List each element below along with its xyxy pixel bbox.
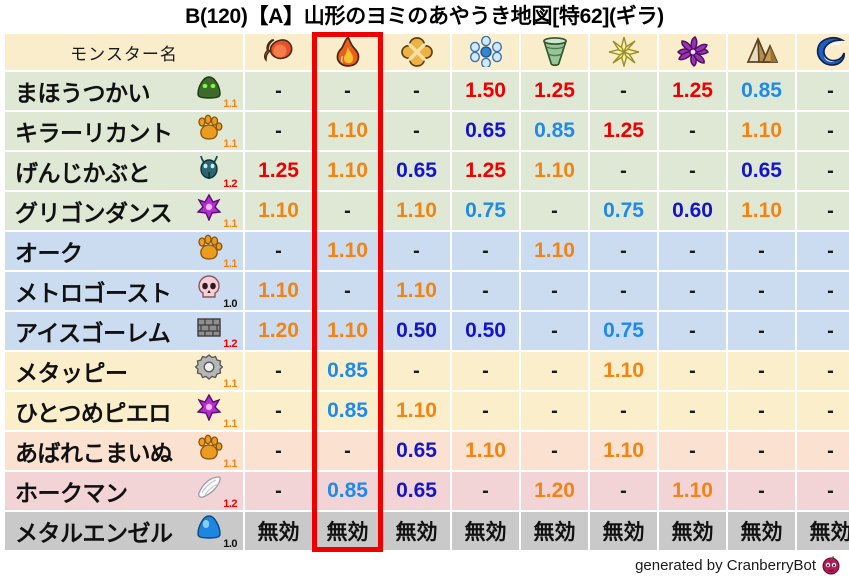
monster-family-badge: 1.0	[193, 514, 237, 548]
resistance-value: -	[551, 320, 558, 342]
resistance-cell: -	[245, 472, 312, 510]
beast-paw-icon	[195, 433, 223, 461]
resistance-cell: -	[728, 392, 795, 430]
resistance-cell: -	[383, 72, 450, 110]
resistance-value: -	[758, 400, 765, 422]
column-header-element-6[interactable]	[659, 34, 726, 70]
resistance-value: -	[551, 280, 558, 302]
resistance-cell: -	[728, 272, 795, 310]
resistance-cell: 1.10	[245, 192, 312, 230]
resistance-value: -	[689, 280, 696, 302]
resistance-value: -	[827, 440, 834, 462]
resistance-value: -	[482, 240, 489, 262]
monster-version-label: 1.2	[223, 339, 237, 350]
resistance-value: -	[620, 400, 627, 422]
resistance-cell: -	[383, 232, 450, 270]
explosion-icon	[400, 36, 434, 68]
resistance-value: 無効	[465, 521, 507, 544]
resistance-value: -	[344, 200, 351, 222]
resistance-value: 1.25	[672, 79, 713, 102]
resistance-value: 1.25	[465, 159, 506, 182]
resistance-value: -	[482, 480, 489, 502]
resistance-value: 無効	[327, 521, 369, 544]
resistance-cell: -	[383, 112, 450, 150]
resistance-value: -	[689, 440, 696, 462]
resistance-value: -	[827, 400, 834, 422]
resistance-value: 0.85	[327, 479, 368, 502]
resistance-value: 1.10	[741, 199, 782, 222]
monster-name-label: ホークマン	[15, 474, 128, 508]
resistance-cell: -	[245, 352, 312, 390]
monster-family-badge: 1.2	[193, 314, 237, 348]
resistance-value: 0.75	[465, 199, 506, 222]
resistance-value: 1.25	[258, 159, 299, 182]
resistance-value: -	[275, 360, 282, 382]
column-header-element-2[interactable]	[383, 34, 450, 70]
resistance-value: -	[344, 80, 351, 102]
monster-family-badge: 1.1	[193, 394, 237, 428]
resistance-cell: -	[590, 272, 657, 310]
resistance-value: 無効	[810, 521, 849, 544]
resistance-cell: 0.65	[383, 152, 450, 190]
machine-gear-icon	[195, 353, 223, 381]
resistance-value: -	[758, 240, 765, 262]
resistance-value: 1.20	[258, 319, 299, 342]
resistance-cell: -	[590, 472, 657, 510]
table-header-row: モンスター名	[5, 34, 849, 70]
resistance-value: -	[689, 240, 696, 262]
resistance-cell: -	[728, 472, 795, 510]
resistance-value: -	[689, 320, 696, 342]
monster-name-cell[interactable]: まほうつかい1.1	[5, 72, 243, 110]
bird-wing-icon	[195, 473, 223, 501]
resistance-cell: -	[797, 192, 849, 230]
flame-icon	[331, 36, 365, 68]
resistance-value: 0.65	[396, 159, 437, 182]
resistance-value: -	[827, 80, 834, 102]
resistance-value: -	[620, 280, 627, 302]
monster-version-label: 1.1	[223, 379, 237, 390]
resistance-value: 0.65	[465, 119, 506, 142]
resistance-value: 1.10	[327, 319, 368, 342]
resistance-value: -	[827, 480, 834, 502]
resistance-cell: 1.10	[659, 472, 726, 510]
resistance-cell: 1.50	[452, 72, 519, 110]
light-star-icon	[607, 36, 641, 68]
resistance-value: -	[620, 160, 627, 182]
footer-credit: generated by CranberryBot	[635, 555, 841, 575]
demon-icon	[195, 393, 223, 421]
resistance-value: 0.85	[534, 119, 575, 142]
table-row: アイスゴーレム1.21.201.100.500.50-0.75---	[5, 312, 849, 350]
resistance-cell: -	[521, 192, 588, 230]
monster-version-label: 1.2	[223, 499, 237, 510]
beast-paw-icon	[195, 233, 223, 261]
resistance-value: -	[689, 400, 696, 422]
resistance-value: -	[275, 120, 282, 142]
resistance-cell: -	[314, 72, 381, 110]
resistance-cell: -	[452, 392, 519, 430]
resistance-value: 0.85	[741, 79, 782, 102]
resistance-value: 1.10	[741, 119, 782, 142]
resistance-value: -	[827, 120, 834, 142]
resistance-value: -	[344, 280, 351, 302]
resistance-value: -	[275, 480, 282, 502]
resistance-value: -	[758, 480, 765, 502]
resistance-cell: -	[314, 192, 381, 230]
resistance-cell: -	[245, 72, 312, 110]
resistance-cell: -	[521, 432, 588, 470]
resistance-value: 1.25	[603, 119, 644, 142]
resistance-value: -	[551, 400, 558, 422]
resistance-value: -	[275, 240, 282, 262]
resistance-cell: -	[659, 152, 726, 190]
resistance-cell: -	[521, 392, 588, 430]
column-header-element-8[interactable]	[797, 34, 849, 70]
table-row: グリゴンダンス1.11.10-1.100.75-0.750.601.10-	[5, 192, 849, 230]
monster-name-label: メトロゴースト	[15, 274, 171, 308]
resistance-cell: -	[245, 392, 312, 430]
resistance-cell: 0.65	[452, 112, 519, 150]
monster-family-badge: 1.0	[193, 274, 237, 308]
resistance-value: 0.75	[603, 199, 644, 222]
resistance-value: 1.10	[603, 439, 644, 462]
monster-name-cell[interactable]: メタルエンゼル1.0	[5, 512, 243, 550]
metal-slime-icon	[195, 513, 223, 541]
resistance-value: -	[413, 360, 420, 382]
table-row: メタルエンゼル1.0無効無効無効無効無効無効無効無効無効	[5, 512, 849, 550]
resistance-cell: -	[797, 472, 849, 510]
resistance-cell: -	[797, 112, 849, 150]
material-brick-icon	[195, 313, 223, 341]
monster-version-label: 1.0	[223, 299, 237, 310]
resistance-cell: -	[659, 392, 726, 430]
resistance-value: 0.65	[396, 439, 437, 462]
resistance-cell: -	[590, 232, 657, 270]
monster-name-label: あばれこまいぬ	[15, 434, 173, 468]
resistance-value: -	[827, 200, 834, 222]
ice-snowflake-icon	[469, 36, 503, 68]
resistance-value: 1.25	[534, 79, 575, 102]
resistance-value: -	[482, 280, 489, 302]
resistance-cell: 0.75	[590, 192, 657, 230]
resistance-cell: 0.50	[383, 312, 450, 350]
resistance-value: -	[689, 360, 696, 382]
resistance-cell: -	[659, 272, 726, 310]
resistance-cell: -	[659, 432, 726, 470]
resistance-cell: 1.10	[314, 312, 381, 350]
resistance-cell: 無効	[245, 512, 312, 550]
monster-name-cell[interactable]: オーク1.1	[5, 232, 243, 270]
resistance-cell: -	[383, 352, 450, 390]
monster-name-label: ひとつめピエロ	[15, 394, 171, 428]
resistance-value: 0.65	[396, 479, 437, 502]
resistance-cell: -	[452, 352, 519, 390]
resistance-cell: 1.10	[521, 152, 588, 190]
column-header-element-4[interactable]	[521, 34, 588, 70]
resistance-value: 1.10	[327, 159, 368, 182]
monster-version-label: 1.1	[223, 99, 237, 110]
monster-version-label: 1.1	[223, 259, 237, 270]
resistance-cell: -	[659, 352, 726, 390]
monster-version-label: 1.1	[223, 139, 237, 150]
resistance-cell: -	[452, 272, 519, 310]
resistance-value: -	[758, 320, 765, 342]
monster-name-label: オーク	[15, 234, 83, 268]
monster-name-cell[interactable]: グリゴンダンス1.1	[5, 192, 243, 230]
column-header-element-1[interactable]	[314, 34, 381, 70]
fireball-icon	[262, 36, 296, 68]
resistance-cell: -	[728, 232, 795, 270]
resistance-value: 1.10	[534, 159, 575, 182]
monster-name-label: まほうつかい	[15, 74, 150, 108]
table-row: メトロゴースト1.01.10-1.10------	[5, 272, 849, 310]
resistance-value: -	[758, 360, 765, 382]
monster-name-cell[interactable]: メタッピー1.1	[5, 352, 243, 390]
resistance-value: -	[620, 480, 627, 502]
resistance-cell: 1.10	[314, 152, 381, 190]
resistance-value: 無効	[534, 521, 576, 544]
footer-credit-text: generated by CranberryBot	[635, 557, 816, 574]
resistance-cell: -	[590, 392, 657, 430]
resistance-value: 1.10	[396, 399, 437, 422]
resistance-cell: 1.10	[383, 272, 450, 310]
resistance-value: 無効	[603, 521, 645, 544]
monster-name-label: アイスゴーレム	[15, 314, 170, 348]
resistance-value: -	[413, 240, 420, 262]
resistance-value: 1.10	[258, 279, 299, 302]
resistance-value: -	[827, 280, 834, 302]
resistance-value: -	[413, 80, 420, 102]
resistance-cell: -	[521, 352, 588, 390]
table-row: ホークマン1.2-0.850.65-1.20-1.10--	[5, 472, 849, 510]
table-row: あばれこまいぬ1.1--0.651.10-1.10---	[5, 432, 849, 470]
resistance-cell: 無効	[521, 512, 588, 550]
monster-version-label: 1.2	[223, 179, 237, 190]
monster-version-label: 1.1	[223, 419, 237, 430]
resistance-cell: 0.65	[728, 152, 795, 190]
resistance-value: 0.60	[672, 199, 713, 222]
resistance-cell: 0.50	[452, 312, 519, 350]
resistance-value: 1.10	[327, 119, 368, 142]
table-row: まほうつかい1.1---1.501.25-1.250.85-	[5, 72, 849, 110]
resistance-value: -	[344, 440, 351, 462]
monster-version-label: 1.1	[223, 219, 237, 230]
resistance-cell: -	[797, 272, 849, 310]
resistance-value: 0.75	[603, 319, 644, 342]
resistance-cell: -	[659, 112, 726, 150]
resistance-cell: 1.10	[383, 192, 450, 230]
resistance-cell: -	[797, 152, 849, 190]
resistance-cell: 無効	[659, 512, 726, 550]
resistance-value: 無効	[741, 521, 783, 544]
resistance-cell: 1.25	[245, 152, 312, 190]
monster-family-badge: 1.2	[193, 474, 237, 508]
monster-name-cell[interactable]: ひとつめピエロ1.1	[5, 392, 243, 430]
resistance-cell: 0.75	[590, 312, 657, 350]
resistance-value: -	[827, 160, 834, 182]
resistance-cell: -	[314, 272, 381, 310]
water-wave-icon	[814, 36, 848, 68]
resistance-value: 0.85	[327, 399, 368, 422]
resistance-value: -	[620, 80, 627, 102]
resistance-cell: -	[797, 232, 849, 270]
monster-name-label: グリゴンダンス	[15, 194, 172, 228]
monster-version-label: 1.1	[223, 459, 237, 470]
resistance-value: 1.10	[465, 439, 506, 462]
resistance-value: -	[758, 280, 765, 302]
resistance-cell: -	[797, 312, 849, 350]
resistance-cell: 0.85	[521, 112, 588, 150]
resistance-cell: -	[659, 312, 726, 350]
monster-name-cell[interactable]: アイスゴーレム1.2	[5, 312, 243, 350]
resistance-value: 0.50	[465, 319, 506, 342]
resistance-value: 1.50	[465, 79, 506, 102]
resistance-value: -	[758, 440, 765, 462]
resistance-value: -	[689, 160, 696, 182]
beast-paw-icon	[195, 113, 223, 141]
resistance-cell: 無効	[452, 512, 519, 550]
monster-family-badge: 1.1	[193, 74, 237, 108]
resistance-value: 無効	[396, 521, 438, 544]
resistance-value: -	[482, 400, 489, 422]
resistance-cell: 無効	[590, 512, 657, 550]
resistance-table-wrapper: モンスター名	[0, 32, 849, 552]
resistance-value: -	[551, 440, 558, 462]
monster-name-cell[interactable]: ホークマン1.2	[5, 472, 243, 510]
resistance-value: 1.10	[396, 279, 437, 302]
resistance-cell: -	[245, 432, 312, 470]
tornado-icon	[538, 36, 572, 68]
monster-name-cell[interactable]: げんじかぶと1.2	[5, 152, 243, 190]
column-header-element-3[interactable]	[452, 34, 519, 70]
undead-skull-icon	[195, 273, 223, 301]
resistance-cell: -	[521, 312, 588, 350]
resistance-cell: 無効	[314, 512, 381, 550]
column-header-element-0[interactable]	[245, 34, 312, 70]
resistance-cell: 1.25	[659, 72, 726, 110]
resistance-cell: 0.85	[314, 352, 381, 390]
resistance-cell: 1.10	[728, 112, 795, 150]
resistance-cell: -	[797, 352, 849, 390]
cranberry-bot-icon	[821, 555, 841, 575]
resistance-cell: -	[728, 352, 795, 390]
monster-name-label: メタルエンゼル	[15, 514, 173, 548]
resistance-value: 1.10	[672, 479, 713, 502]
monster-family-badge: 1.1	[193, 234, 237, 268]
resistance-cell: -	[245, 232, 312, 270]
table-body: まほうつかい1.1---1.501.25-1.250.85-キラーリカント1.1…	[5, 72, 849, 550]
dark-swirl-icon	[676, 36, 710, 68]
monster-name-cell[interactable]: メトロゴースト1.0	[5, 272, 243, 310]
resistance-cell: 0.60	[659, 192, 726, 230]
resistance-cell: 1.25	[452, 152, 519, 190]
resistance-value: 1.10	[534, 239, 575, 262]
monster-family-badge: 1.1	[193, 354, 237, 388]
resistance-value: -	[551, 200, 558, 222]
column-header-element-7[interactable]	[728, 34, 795, 70]
resistance-value: -	[482, 360, 489, 382]
monster-family-badge: 1.1	[193, 434, 237, 468]
monster-name-cell[interactable]: キラーリカント1.1	[5, 112, 243, 150]
resistance-cell: -	[797, 392, 849, 430]
resistance-cell: 0.65	[383, 472, 450, 510]
resistance-cell: -	[728, 432, 795, 470]
resistance-value: -	[275, 80, 282, 102]
monster-family-badge: 1.1	[193, 114, 237, 148]
resistance-value: -	[413, 120, 420, 142]
resistance-cell: 無効	[383, 512, 450, 550]
resistance-cell: 1.20	[521, 472, 588, 510]
column-header-element-5[interactable]	[590, 34, 657, 70]
table-row: キラーリカント1.1-1.10-0.650.851.25-1.10-	[5, 112, 849, 150]
table-row: メタッピー1.1-0.85---1.10---	[5, 352, 849, 390]
resistance-cell: 1.25	[590, 112, 657, 150]
resistance-cell: 0.85	[314, 392, 381, 430]
resistance-value: 0.50	[396, 319, 437, 342]
resistance-value: -	[551, 360, 558, 382]
resistance-cell: -	[452, 232, 519, 270]
resistance-cell: 1.10	[452, 432, 519, 470]
resistance-value: 1.20	[534, 479, 575, 502]
resistance-cell: 1.10	[314, 232, 381, 270]
resistance-cell: 1.10	[245, 272, 312, 310]
resistance-value: 1.10	[603, 359, 644, 382]
earth-mountain-icon	[745, 36, 779, 68]
resistance-cell: -	[590, 152, 657, 190]
resistance-cell: 1.10	[728, 192, 795, 230]
resistance-value: 無効	[672, 521, 714, 544]
resistance-cell: -	[590, 72, 657, 110]
monster-family-badge: 1.1	[193, 194, 237, 228]
resistance-cell: 1.10	[590, 432, 657, 470]
monster-name-label: キラーリカント	[15, 114, 173, 148]
resistance-value: -	[275, 440, 282, 462]
resistance-cell: -	[797, 432, 849, 470]
resistance-value: 1.10	[258, 199, 299, 222]
resistance-cell: 無効	[728, 512, 795, 550]
resistance-cell: -	[521, 272, 588, 310]
resistance-cell: 1.10	[314, 112, 381, 150]
resistance-value: 1.10	[396, 199, 437, 222]
slime-icon	[195, 73, 223, 101]
resistance-cell: 1.20	[245, 312, 312, 350]
page-title: B(120)【A】山形のヨミのあやうき地図[特62](ギラ)	[0, 0, 849, 32]
resistance-cell: 1.10	[521, 232, 588, 270]
resistance-cell: 1.10	[383, 392, 450, 430]
table-row: オーク1.1-1.10--1.10----	[5, 232, 849, 270]
monster-name-cell[interactable]: あばれこまいぬ1.1	[5, 432, 243, 470]
column-header-monster-name: モンスター名	[5, 34, 243, 70]
table-row: げんじかぶと1.21.251.100.651.251.10--0.65-	[5, 152, 849, 190]
resistance-value: -	[275, 400, 282, 422]
resistance-cell: 1.10	[590, 352, 657, 390]
resistance-cell: -	[314, 432, 381, 470]
resistance-value: 0.85	[327, 359, 368, 382]
resistance-value: -	[827, 360, 834, 382]
resistance-cell: 0.85	[314, 472, 381, 510]
resistance-value: 無効	[258, 521, 300, 544]
resistance-cell: -	[659, 232, 726, 270]
monster-family-badge: 1.2	[193, 154, 237, 188]
resistance-cell: 1.25	[521, 72, 588, 110]
resistance-cell: 0.85	[728, 72, 795, 110]
resistance-value: -	[689, 120, 696, 142]
resistance-cell: 無効	[797, 512, 849, 550]
resistance-cell: -	[797, 72, 849, 110]
resistance-table: モンスター名	[3, 32, 849, 552]
resistance-cell: 0.75	[452, 192, 519, 230]
